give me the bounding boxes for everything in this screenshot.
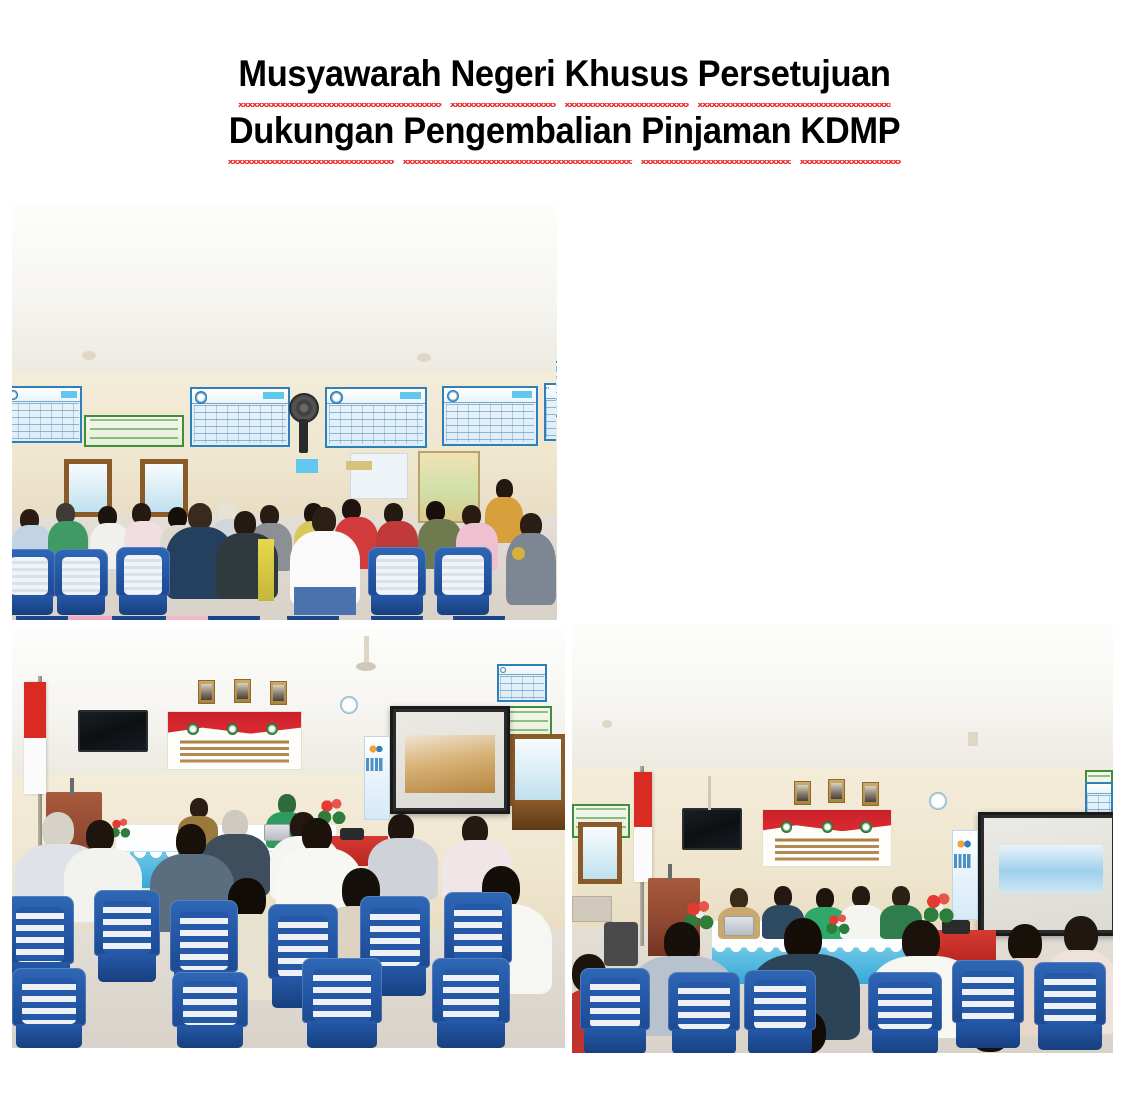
- title-word: Khusus: [565, 46, 689, 103]
- title-word: Persetujuan: [698, 46, 891, 103]
- title-word: Negeri: [450, 46, 555, 103]
- photo-2: [12, 203, 556, 616]
- photo-4: [572, 624, 1113, 1053]
- title-word: Dukungan: [229, 103, 394, 160]
- title-word: Pengembalian: [403, 103, 632, 160]
- title-word: KDMP: [800, 103, 900, 160]
- page-title: Musyawarah Negeri Khusus Persetujuan Duk…: [0, 46, 1129, 160]
- document-page: Musyawarah Negeri Khusus Persetujuan Duk…: [0, 0, 1129, 1098]
- title-line-2: Dukungan Pengembalian Pinjaman KDMP: [40, 103, 1090, 160]
- photo-grid: [12, 203, 1113, 1053]
- photo-3: [12, 628, 565, 1048]
- title-word: Pinjaman: [641, 103, 791, 160]
- title-word: Musyawarah: [238, 46, 441, 103]
- title-line-1: Musyawarah Negeri Khusus Persetujuan: [40, 46, 1090, 103]
